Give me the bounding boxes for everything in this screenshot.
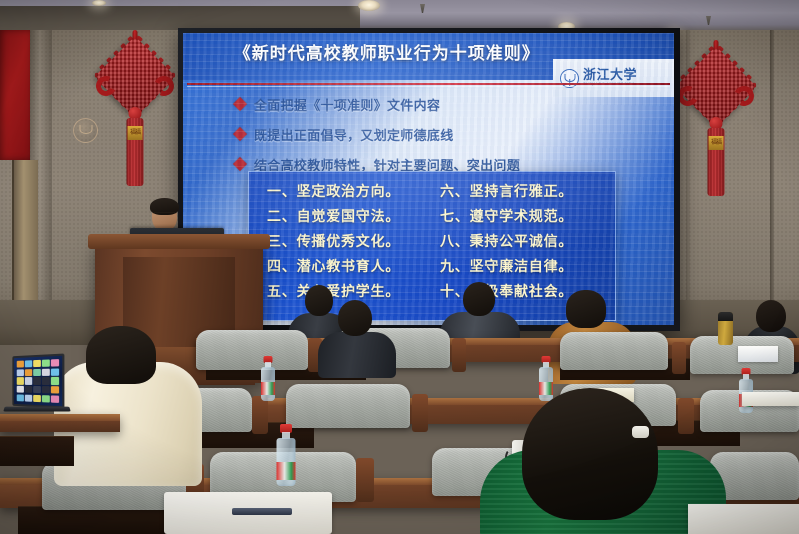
guideline-item: 二、自觉爱国守法。 [267, 206, 430, 226]
attendee-head [463, 282, 495, 316]
desktop-icon [51, 368, 59, 376]
desktop-icon [17, 361, 24, 368]
desktop-icon [33, 395, 40, 402]
seat-back [286, 384, 410, 428]
guideline-item: 一、坚定政治方向。 [267, 181, 430, 201]
hair-tie [632, 426, 649, 438]
title-divider-red [187, 83, 670, 85]
attendee-head [566, 290, 606, 328]
desktop-icon [42, 368, 50, 375]
ceiling-downlight-icon [92, 0, 106, 6]
attendee-torso [318, 332, 396, 378]
logo-name-cn: 浙江大学 [583, 69, 637, 83]
seat-armrest [412, 394, 428, 432]
gold-thermos [718, 312, 733, 345]
chinese-knot-right: 福福 [685, 40, 747, 208]
guideline-item: 八、秉持公平诚信。 [440, 231, 603, 251]
laptop-screen [12, 354, 64, 409]
desktop-icon [33, 369, 40, 376]
list-item: 既提出正面倡导，又划定师德底线 [235, 125, 635, 144]
podium-desktop [88, 234, 270, 249]
desktop-icon [51, 395, 59, 403]
lecture-hall-photo: 福福 福福 《新时代高校教师职业行为十项准则》 浙江大学 ZHEJIANG UN… [0, 0, 799, 534]
desktop-icon [51, 359, 59, 367]
open-notebook [742, 392, 799, 406]
attendee-hair [522, 388, 658, 520]
desk-edge [0, 414, 120, 421]
ceiling-downlight-icon [358, 0, 380, 11]
desktop-icon [33, 377, 40, 384]
attendee-hair [86, 326, 156, 384]
desktop-icon [33, 360, 40, 367]
attendee-head [756, 300, 786, 332]
diamond-bullet-icon [233, 157, 247, 171]
seat-armrest [356, 458, 374, 502]
desktop-icon [51, 377, 59, 385]
bottle-label [261, 382, 275, 395]
desktop-icon [25, 369, 32, 376]
desktop-icon [42, 377, 50, 384]
desktop-icon [42, 386, 50, 393]
water-bottle [276, 424, 296, 486]
glasses-icon [154, 212, 175, 217]
bullet-label: 全面把握《十项准则》文件内容 [254, 95, 440, 114]
title-divider-white [187, 86, 670, 87]
laptop-keyboard-base [3, 407, 71, 412]
desk-front-panel [0, 436, 74, 466]
guideline-item: 六、坚持言行雅正。 [440, 181, 603, 201]
desk-left-side [0, 414, 120, 432]
desktop-icons [17, 359, 59, 403]
bottle-label [277, 462, 296, 480]
desktop-icon [42, 395, 50, 403]
university-crest-icon [73, 118, 98, 143]
guideline-item: 四、潜心教书育人。 [267, 256, 430, 276]
desktop-icon [17, 394, 24, 401]
desk-nameplate [738, 346, 778, 362]
knot-tassel-gold-char: 福福 [128, 126, 143, 140]
seat-armrest [452, 338, 466, 372]
desktop-icon [25, 386, 32, 393]
attendee-laptop [4, 355, 66, 417]
diamond-bullet-icon [233, 97, 247, 111]
desktop-icon [42, 359, 50, 367]
guideline-item: 九、坚守廉洁自律。 [440, 256, 603, 276]
desktop-icon [17, 369, 24, 376]
page-title: 《新时代高校教师职业行为十项准则》 [183, 39, 591, 64]
desktop-icon [17, 386, 24, 393]
chinese-knot-left: 福福 [103, 30, 167, 200]
bullet-label: 既提出正面倡导，又划定师德底线 [254, 125, 454, 144]
notebook-spine [232, 508, 292, 515]
list-item: 全面把握《十项准则》文件内容 [235, 95, 635, 114]
attendee-dark-suit-right [318, 300, 396, 372]
seat-back [560, 332, 668, 370]
red-wall-banner [0, 30, 30, 160]
guideline-item: 三、传播优秀文化。 [267, 231, 430, 251]
desktop-icon [17, 377, 24, 384]
seat-back [196, 330, 308, 370]
desktop-icon [25, 360, 32, 367]
desktop-icon [25, 377, 32, 384]
desktop-icon [51, 386, 59, 394]
diamond-bullet-icon [233, 127, 247, 141]
seat-armrest [672, 342, 686, 374]
water-bottle [738, 368, 754, 414]
open-notebook [688, 504, 799, 534]
desktop-icon [33, 386, 40, 393]
desktop-icon [25, 394, 32, 401]
university-logo: 浙江大学 ZHEJIANG UNIVERSITY [553, 59, 674, 97]
attendee-cream-jacket [54, 326, 202, 482]
attendee-head [338, 300, 372, 336]
knot-tassel-gold-char: 福福 [709, 136, 724, 150]
guideline-item: 七、遵守学术规范。 [440, 206, 603, 226]
thermos-lid [718, 312, 733, 321]
wall-seam [770, 30, 774, 330]
water-bottle [260, 356, 276, 402]
guidelines-grid: 一、坚定政治方向。 六、坚持言行雅正。 二、自觉爱国守法。 七、遵守学术规范。 … [267, 181, 603, 301]
